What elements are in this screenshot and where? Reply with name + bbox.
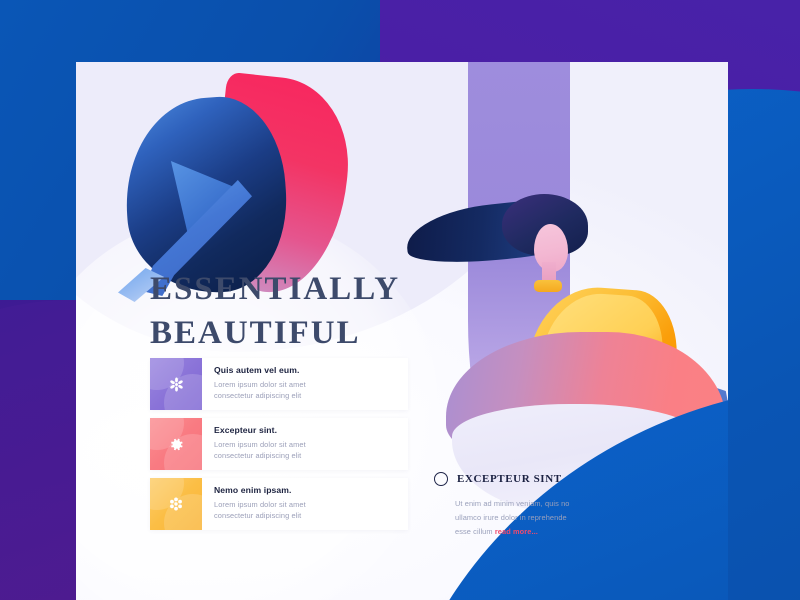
list-item[interactable]: Quis autem vel eum. Lorem ipsum dolor si… xyxy=(150,358,408,410)
feature-icon-tile xyxy=(150,478,202,530)
feature-description: Lorem ipsum dolor sit amet consectetur a… xyxy=(214,379,306,402)
feature-title: Excepteur sint. xyxy=(214,425,306,435)
feature-desc-line-2: consectetur adipiscing elit xyxy=(214,451,301,460)
headline-line-1: ESSENTIALLY xyxy=(150,268,400,312)
feature-text: Nemo enim ipsam. Lorem ipsum dolor sit a… xyxy=(202,478,312,522)
feature-description: Lorem ipsum dolor sit amet consectetur a… xyxy=(214,439,306,462)
gear-icon xyxy=(168,436,185,453)
flower-icon xyxy=(167,495,185,513)
flower-icon xyxy=(168,376,185,393)
excepteur-body-line-2: ullamco irure dolor in reprehende xyxy=(455,513,567,522)
list-item[interactable]: Nemo enim ipsam. Lorem ipsum dolor sit a… xyxy=(150,478,408,530)
collar-shape xyxy=(534,280,562,292)
content-card: ESSENTIALLY BEAUTIFUL xyxy=(76,62,728,600)
excepteur-body-line-3: esse cillum xyxy=(455,527,495,536)
feature-desc-line-2: consectetur adipiscing elit xyxy=(214,511,301,520)
feature-title: Nemo enim ipsam. xyxy=(214,485,306,495)
feature-desc-line-1: Lorem ipsum dolor sit amet xyxy=(214,380,306,389)
feature-list: Quis autem vel eum. Lorem ipsum dolor si… xyxy=(150,358,408,538)
excepteur-body-line-1: Ut enim ad minim veniam, quis no xyxy=(455,499,570,508)
poster-canvas: ESSENTIALLY BEAUTIFUL xyxy=(0,0,800,600)
read-more-link[interactable]: read more... xyxy=(495,527,538,536)
feature-icon-tile xyxy=(150,418,202,470)
list-item[interactable]: Excepteur sint. Lorem ipsum dolor sit am… xyxy=(150,418,408,470)
excepteur-heading: EXCEPTEUR SINT xyxy=(434,472,610,486)
feature-description: Lorem ipsum dolor sit amet consectetur a… xyxy=(214,499,306,522)
feature-desc-line-1: Lorem ipsum dolor sit amet xyxy=(214,440,306,449)
excepteur-body: Ut enim ad minim veniam, quis no ullamco… xyxy=(434,497,610,540)
feature-icon-tile xyxy=(150,358,202,410)
page-title: ESSENTIALLY BEAUTIFUL xyxy=(150,268,400,355)
feature-text: Excepteur sint. Lorem ipsum dolor sit am… xyxy=(202,418,312,462)
feature-title: Quis autem vel eum. xyxy=(214,365,306,375)
feature-desc-line-2: consectetur adipiscing elit xyxy=(214,391,301,400)
feature-desc-line-1: Lorem ipsum dolor sit amet xyxy=(214,500,306,509)
circle-bullet-icon xyxy=(434,472,448,486)
headline-line-2: BEAUTIFUL xyxy=(150,312,400,356)
excepteur-section: EXCEPTEUR SINT Ut enim ad minim veniam, … xyxy=(434,472,610,540)
feature-text: Quis autem vel eum. Lorem ipsum dolor si… xyxy=(202,358,312,402)
excepteur-title: EXCEPTEUR SINT xyxy=(457,473,562,485)
